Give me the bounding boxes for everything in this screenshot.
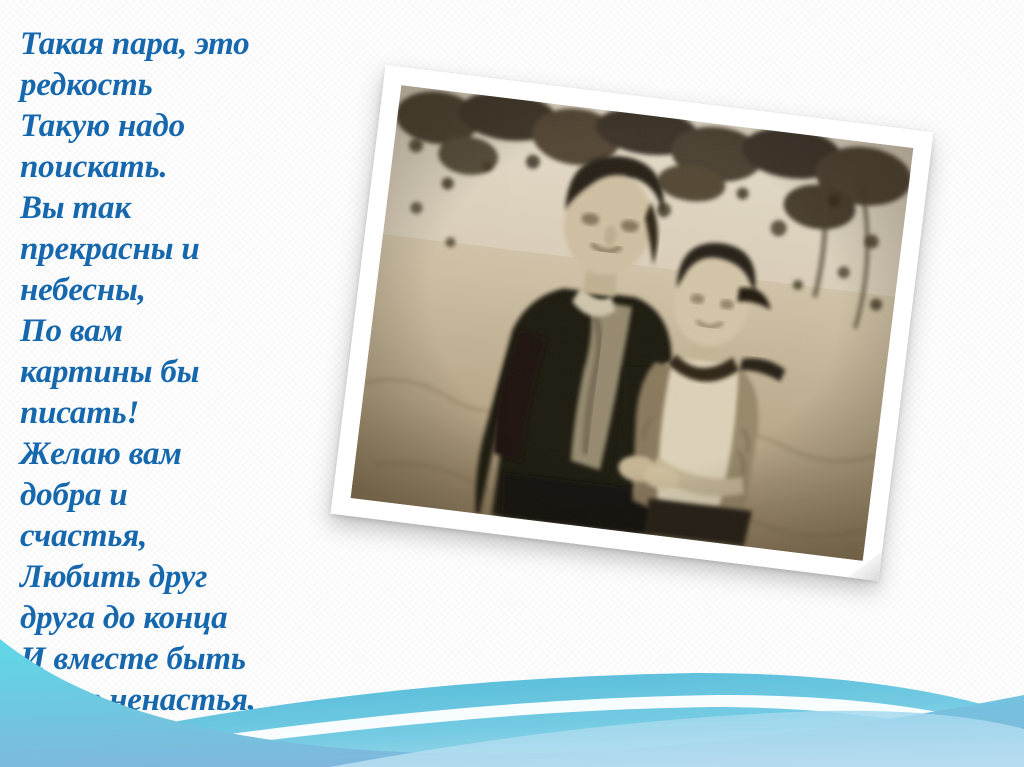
poem-line: Вы так [20, 188, 332, 229]
poem-line: И вместе быть [20, 639, 332, 680]
vintage-couple-photo [351, 85, 914, 561]
poem-line: добра и [20, 475, 332, 516]
poem-line: Такую надо [20, 106, 332, 147]
poem-line: поискать. [20, 147, 332, 188]
poem-line: счастья, [20, 516, 332, 557]
poem-line: небесны, [20, 270, 332, 311]
poem-line: редкость [20, 65, 332, 106]
poem-line: во все ненастья, [20, 680, 332, 721]
poem-line: друга до конца [20, 598, 332, 639]
poem-line: Такая пара, это [20, 24, 332, 65]
poem-line: Любить друг [20, 557, 332, 598]
poem-line: прекрасны и [20, 229, 332, 270]
wave-highlight [330, 711, 1024, 767]
poem-text-block: Такая пара, это редкость Такую надо поис… [20, 24, 332, 767]
poem-line: любви всегда! [20, 762, 332, 767]
poem-line: писать! [20, 393, 332, 434]
photo-frame [331, 65, 934, 581]
poem-line: картины бы [20, 352, 332, 393]
poem-line: Держать огонь [20, 721, 332, 762]
poem-line: По вам [20, 311, 332, 352]
poem-line: Желаю вам [20, 434, 332, 475]
slide-canvas: Такая пара, это редкость Такую надо поис… [0, 0, 1024, 767]
